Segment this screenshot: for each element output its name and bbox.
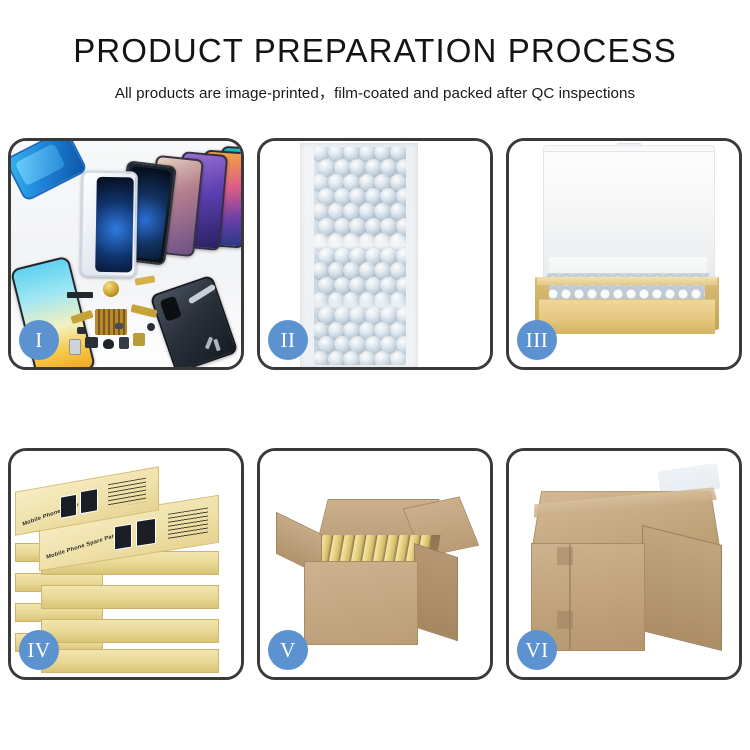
bubble-wrapped-product-icon bbox=[314, 147, 406, 365]
step-panel-3: III bbox=[506, 138, 742, 370]
step-badge-6: VI bbox=[517, 630, 557, 670]
box-print-phone-1a bbox=[60, 494, 77, 519]
chip-b-icon bbox=[115, 323, 123, 329]
phone-glass-panel-icon bbox=[80, 171, 138, 278]
carton-side-panel-icon bbox=[642, 525, 722, 651]
carton-front-panel-icon bbox=[304, 561, 418, 645]
step-badge-5: V bbox=[268, 630, 308, 670]
step-badge-2: II bbox=[268, 320, 308, 360]
speaker-strip-part-icon bbox=[67, 292, 93, 298]
step-badge-1: I bbox=[19, 320, 59, 360]
box-rim-icon bbox=[537, 277, 717, 285]
bubble-icon bbox=[374, 351, 391, 365]
stacked-box-r4 bbox=[41, 649, 219, 673]
box-print-phone-2a bbox=[114, 524, 132, 551]
wrap-highlight-a bbox=[314, 235, 406, 255]
small-part-e-icon bbox=[133, 333, 145, 346]
bubble-field bbox=[314, 147, 406, 365]
step-panel-6: VI bbox=[506, 448, 742, 680]
step-panel-2: II bbox=[257, 138, 493, 370]
box-print-phone-2b bbox=[136, 518, 156, 547]
step-panel-5: V bbox=[257, 448, 493, 680]
step-panel-1: I bbox=[8, 138, 244, 370]
bubble-icon bbox=[359, 351, 376, 365]
small-part-c-icon bbox=[119, 337, 129, 349]
chip-a-icon bbox=[77, 327, 86, 334]
bubble-icon bbox=[343, 351, 360, 365]
step-panel-4: Mobile Phone Spare Parts Mobile Phone Sp… bbox=[8, 448, 244, 680]
stacked-box-r3 bbox=[41, 619, 219, 643]
box-print-specs-2 bbox=[168, 507, 208, 539]
page-subtitle: All products are image-printed，film-coat… bbox=[0, 81, 750, 103]
small-part-b-icon bbox=[103, 339, 114, 349]
carton-tab-upper-icon bbox=[557, 547, 573, 565]
gold-coil-part-icon bbox=[103, 281, 119, 297]
process-steps-grid: I II III bbox=[8, 138, 742, 680]
carton-tab-lower-icon bbox=[557, 611, 573, 629]
sim-tray-part-icon bbox=[69, 339, 81, 355]
page-title: PRODUCT PREPARATION PROCESS bbox=[0, 34, 750, 69]
box-print-label-2: Mobile Phone Spare Parts bbox=[46, 532, 120, 561]
small-part-a-icon bbox=[85, 337, 98, 348]
wrap-highlight-b bbox=[314, 299, 406, 313]
connector-grid-part-icon bbox=[95, 309, 127, 335]
box-print-phone-1b bbox=[80, 488, 98, 514]
bubble-icon bbox=[328, 351, 345, 365]
page-header: PRODUCT PREPARATION PROCESS All products… bbox=[0, 0, 750, 103]
stacked-box-r2 bbox=[41, 585, 219, 609]
box-front-panel-icon bbox=[539, 299, 715, 334]
step-badge-4: IV bbox=[19, 630, 59, 670]
carton-side-panel-icon bbox=[414, 543, 458, 641]
bubble-icon bbox=[390, 351, 407, 365]
chip-c-icon bbox=[147, 323, 155, 331]
box-print-specs-1 bbox=[108, 478, 146, 509]
bubble-icon bbox=[314, 351, 329, 365]
step-badge-3: III bbox=[517, 320, 557, 360]
